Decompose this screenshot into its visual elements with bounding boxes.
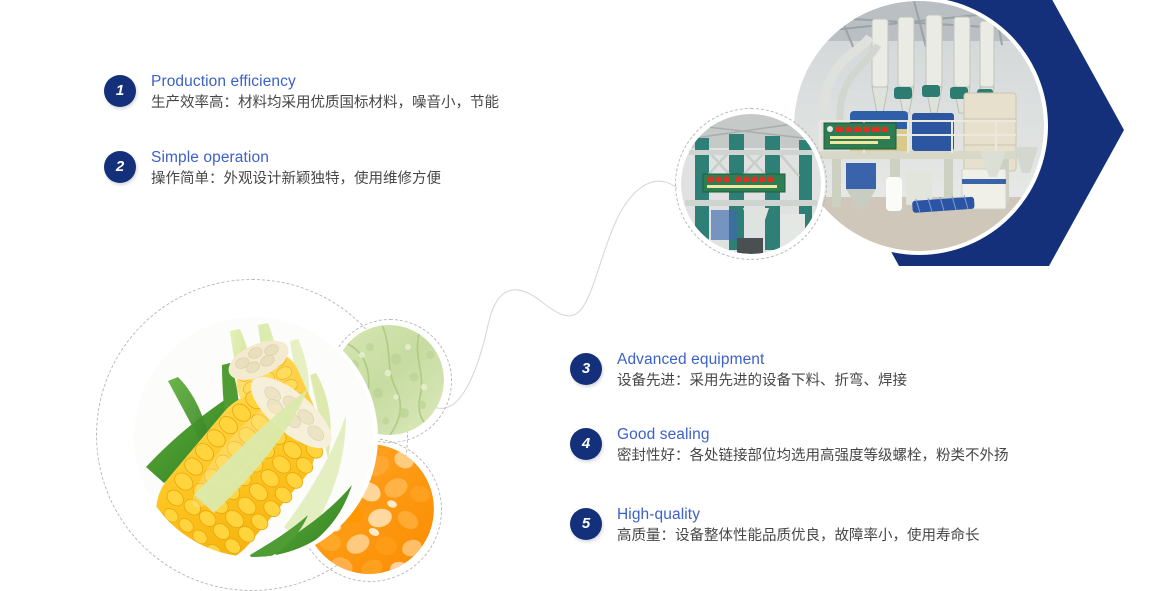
- machine-photo-large: [794, 1, 1044, 251]
- feature-title: High-quality: [617, 505, 980, 525]
- feature-number-badge: 2: [104, 151, 136, 183]
- feature-number-badge: 1: [104, 75, 136, 107]
- corn-photo-cluster: [92, 282, 492, 591]
- feature-text-block: Production efficiency 生产效率高：材料均采用优质国标材料，…: [151, 72, 499, 114]
- feature-text-block: Advanced equipment 设备先进：采用先进的设备下料、折弯、焊接: [617, 350, 907, 392]
- feature-description: 生产效率高：材料均采用优质国标材料，噪音小，节能: [151, 93, 499, 114]
- feature-description: 高质量：设备整体性能品质优良，故障率小，使用寿命长: [617, 526, 980, 547]
- machine-banner-small: [703, 174, 785, 192]
- feature-item-5[interactable]: 5 High-quality 高质量：设备整体性能品质优良，故障率小，使用寿命长: [570, 505, 980, 547]
- feature-item-1[interactable]: 1 Production efficiency 生产效率高：材料均采用优质国标材…: [104, 72, 499, 114]
- feature-number-badge: 3: [570, 353, 602, 385]
- feature-title: Advanced equipment: [617, 350, 907, 370]
- machine-photo-cluster: [664, 0, 1154, 284]
- feature-description: 设备先进：采用先进的设备下料、折弯、焊接: [617, 371, 907, 392]
- feature-item-2[interactable]: 2 Simple operation 操作简单：外观设计新颖独特，使用维修方便: [104, 148, 441, 190]
- machine-photo-small: [681, 114, 821, 254]
- machine-banner: [824, 123, 896, 149]
- infographic-page: 1 Production efficiency 生产效率高：材料均采用优质国标材…: [0, 0, 1154, 591]
- corn-cob-photo: [134, 317, 374, 557]
- feature-title: Production efficiency: [151, 72, 499, 92]
- feature-title: Simple operation: [151, 148, 441, 168]
- feature-text-block: Good sealing 密封性好：各处链接部位均选用高强度等级螺栓，粉类不外扬: [617, 425, 1009, 467]
- feature-text-block: High-quality 高质量：设备整体性能品质优良，故障率小，使用寿命长: [617, 505, 980, 547]
- feature-item-4[interactable]: 4 Good sealing 密封性好：各处链接部位均选用高强度等级螺栓，粉类不…: [570, 425, 1009, 467]
- feature-item-3[interactable]: 3 Advanced equipment 设备先进：采用先进的设备下料、折弯、焊…: [570, 350, 907, 392]
- feature-number-badge: 5: [570, 508, 602, 540]
- feature-title: Good sealing: [617, 425, 1009, 445]
- feature-description: 密封性好：各处链接部位均选用高强度等级螺栓，粉类不外扬: [617, 446, 1009, 467]
- feature-number-badge: 4: [570, 428, 602, 460]
- feature-text-block: Simple operation 操作简单：外观设计新颖独特，使用维修方便: [151, 148, 441, 190]
- feature-description: 操作简单：外观设计新颖独特，使用维修方便: [151, 169, 441, 190]
